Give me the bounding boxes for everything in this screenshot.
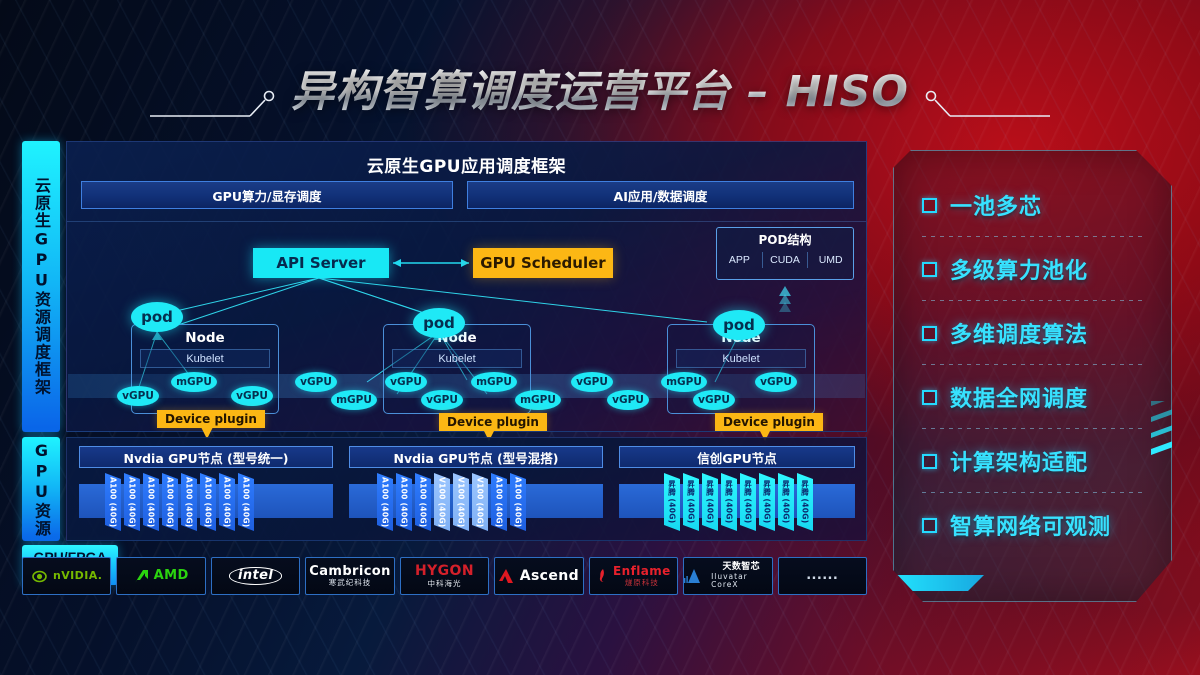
vendor-logo-amd[interactable]: AMD	[116, 557, 205, 595]
node-title: Node	[132, 330, 278, 346]
feature-label: 多级算力池化	[950, 253, 1088, 285]
gpu-card-label: A100 (40G)	[495, 477, 504, 528]
pod-structure-cell-cuda: CUDA	[762, 252, 808, 268]
vendor-subtitle-label: 寒武纪科技	[329, 579, 372, 587]
gpu-card-label: 昇腾 (40G)	[762, 480, 773, 523]
vgpu-ellipse[interactable]: vGPU	[117, 386, 159, 406]
vendor-logo-hygon[interactable]: HYGON中科海光	[400, 557, 489, 595]
ascend-mark-icon	[499, 569, 515, 583]
framework-bar-0-label: GPU算力/显存调度	[212, 186, 321, 205]
gpu-card-label: A100 (40G)	[514, 477, 523, 528]
framework-bar-compute-scheduling[interactable]: GPU算力/显存调度	[81, 181, 453, 209]
feature-item[interactable]: 多维调度算法	[922, 301, 1155, 365]
gpu-card-label: 昇腾 (40G)	[686, 480, 697, 523]
feature-label: 计算架构适配	[950, 445, 1088, 477]
features-panel: 一池多芯多级算力池化多维调度算法数据全网调度计算架构适配智算网络可观测	[893, 150, 1172, 602]
checkbox-icon	[922, 454, 937, 469]
gpu-card[interactable]: 昇腾 (40G)	[797, 473, 813, 531]
feature-label: 数据全网调度	[950, 381, 1088, 413]
vgpu-ellipse[interactable]: vGPU	[421, 390, 463, 410]
vendor-name-label: intel	[229, 567, 282, 585]
vgpu-ellipse[interactable]: vGPU	[755, 372, 797, 392]
gpu-card-label: A100 (40G)	[204, 477, 213, 528]
gpu-scheduler-label: GPU Scheduler	[480, 254, 605, 272]
gpu-card-label: V100 (40G)	[438, 477, 447, 528]
gpu-group-header: 信创GPU节点	[619, 446, 855, 468]
sidebar-tab-gpu-resource[interactable]: GPU资源	[22, 437, 60, 541]
vgpu-ellipse[interactable]: vGPU	[231, 386, 273, 406]
gpu-card-label: A100 (40G)	[185, 477, 194, 528]
vendor-logo-nvidia[interactable]: nVIDIA.	[22, 557, 111, 595]
vendor-subtitle-label: 燧原科技	[625, 579, 659, 587]
vendor-name-label: Enflame	[613, 565, 671, 578]
api-server-label: API Server	[276, 254, 365, 272]
feature-item[interactable]: 计算架构适配	[922, 429, 1155, 493]
vendor-name-label: HYGON	[415, 564, 474, 579]
mgpu-ellipse[interactable]: mGPU	[515, 390, 561, 410]
gpu-card-label: 昇腾 (40G)	[705, 480, 716, 523]
cloud-native-framework-panel: 云原生GPU应用调度框架 GPU算力/显存调度 AI应用/数据调度	[66, 141, 867, 432]
vendor-name-label: Cambricon	[309, 565, 391, 579]
gpu-card[interactable]: 昇腾 (40G)	[721, 473, 737, 531]
vendor-logo-more[interactable]: ......	[778, 557, 867, 595]
gpu-group-header: Nvdia GPU节点 (型号混搭)	[349, 446, 603, 468]
gpu-card[interactable]: A100 (40G)	[377, 473, 393, 531]
device-plugin-tag[interactable]: Device plugin	[439, 413, 547, 431]
vendor-name-label: 天数智芯	[722, 563, 760, 572]
feature-item[interactable]: 智算网络可观测	[922, 493, 1155, 557]
feature-label: 一池多芯	[950, 189, 1042, 221]
framework-bar-ai-data-scheduling[interactable]: AI应用/数据调度	[467, 181, 854, 209]
vendor-name-label: Ascend	[520, 569, 579, 584]
gpu-card-label: V100 (40G)	[457, 477, 466, 528]
checkbox-icon	[922, 326, 937, 341]
gpu-card-label: A100 (40G)	[166, 477, 175, 528]
vendor-name-label: AMD	[154, 569, 189, 583]
gpu-card[interactable]: A100 (40G)	[491, 473, 507, 531]
pod-ellipse[interactable]: pod	[713, 310, 765, 340]
vendor-subtitle-label: Iluvatar CoreX	[711, 573, 771, 589]
gpu-card-label: A100 (40G)	[400, 477, 409, 528]
vendor-subtitle-label: 中科海光	[427, 580, 461, 588]
mgpu-ellipse[interactable]: mGPU	[471, 372, 517, 392]
kubelet-bar: Kubelet	[392, 349, 522, 368]
gpu-resource-panel: Nvdia GPU节点 (型号统一) Nvdia GPU节点 (型号混搭) 信创…	[66, 437, 867, 541]
vendor-logo-iluvatar[interactable]: 天数智芯Iluvatar CoreX	[683, 557, 772, 595]
device-plugin-tag[interactable]: Device plugin	[715, 413, 823, 431]
vgpu-ellipse[interactable]: vGPU	[571, 372, 613, 392]
framework-title: 云原生GPU应用调度框架	[67, 152, 866, 177]
gpu-card[interactable]: A100 (40G)	[219, 473, 235, 531]
title-bar: 异构智算调度运营平台 – HISO	[0, 62, 1200, 128]
gpu-card[interactable]: V100 (40G)	[434, 473, 450, 531]
gpu-card-label: A100 (40G)	[242, 477, 251, 528]
nvidia-mark-icon	[31, 570, 48, 583]
gpu-card-label: A100 (40G)	[109, 477, 118, 528]
framework-divider	[67, 221, 866, 222]
gpu-card[interactable]: V100 (40G)	[472, 473, 488, 531]
gpu-card-label: 昇腾 (40G)	[800, 480, 811, 523]
gpu-card-stack: A100 (40G)A100 (40G)A100 (40G)V100 (40G)…	[377, 473, 526, 531]
vendor-logo-intel[interactable]: intel	[211, 557, 300, 595]
pod-ellipse[interactable]: pod	[413, 308, 465, 338]
gpu-card-label: A100 (40G)	[223, 477, 232, 528]
feature-label: 智算网络可观测	[950, 509, 1111, 541]
vendor-name-label: ......	[806, 569, 838, 583]
gpu-card-label: A100 (40G)	[147, 477, 156, 528]
gpu-card-label: A100 (40G)	[419, 477, 428, 528]
gpu-card[interactable]: A100 (40G)	[124, 473, 140, 531]
gpu-card[interactable]: V100 (40G)	[453, 473, 469, 531]
gpu-card[interactable]: 昇腾 (40G)	[759, 473, 775, 531]
feature-label: 多维调度算法	[950, 317, 1088, 349]
iluvatar-mark-icon	[684, 569, 706, 583]
feature-item[interactable]: 一池多芯	[922, 173, 1155, 237]
title-decoration-right-icon	[920, 86, 1050, 122]
kubelet-bar: Kubelet	[676, 349, 806, 368]
gpu-card-label: 昇腾 (40G)	[724, 480, 735, 523]
gpu-card[interactable]: A100 (40G)	[396, 473, 412, 531]
gpu-card-label: 昇腾 (40G)	[743, 480, 754, 523]
gpu-card[interactable]: 昇腾 (40G)	[778, 473, 794, 531]
gpu-scheduler-node[interactable]: GPU Scheduler	[473, 248, 613, 278]
mgpu-ellipse[interactable]: mGPU	[661, 372, 707, 392]
pod-ellipse[interactable]: pod	[131, 302, 183, 332]
panel-corner-accent-icon	[888, 575, 984, 591]
gpu-card-label: 昇腾 (40G)	[667, 480, 678, 523]
panel-stripes-decoration-icon	[1151, 401, 1177, 477]
gpu-card-label: A100 (40G)	[381, 477, 390, 528]
gpu-card[interactable]: A100 (40G)	[510, 473, 526, 531]
sidebar-tab-gpu-resource-label: GPU资源	[33, 441, 49, 538]
mgpu-ellipse[interactable]: mGPU	[331, 390, 377, 410]
architecture-diagram: 云原生GPU资源调度框架 GPU资源 GPU/FPGA /ASIC 云原生GPU…	[22, 141, 867, 601]
enflame-mark-icon	[596, 569, 608, 583]
kubelet-bar: Kubelet	[140, 349, 270, 368]
vendor-logo-enflame[interactable]: Enflame燧原科技	[589, 557, 678, 595]
pod-structure-cell-app: APP	[717, 252, 762, 268]
gpu-card[interactable]: A100 (40G)	[415, 473, 431, 531]
slide-canvas: 异构智算调度运营平台 – HISO 云原生GPU资源调度框架 GPU资源 GPU…	[0, 0, 1200, 675]
api-server-node[interactable]: API Server	[253, 248, 389, 278]
vendor-logo-row: nVIDIA.AMDintelCambricon寒武纪科技HYGON中科海光As…	[22, 557, 867, 595]
mgpu-ellipse[interactable]: mGPU	[171, 372, 217, 392]
gpu-group-header: Nvdia GPU节点 (型号统一)	[79, 446, 333, 468]
checkbox-icon	[922, 198, 937, 213]
gpu-card[interactable]: A100 (40G)	[200, 473, 216, 531]
gpu-card[interactable]: 昇腾 (40G)	[740, 473, 756, 531]
gpu-card-stack: 昇腾 (40G)昇腾 (40G)昇腾 (40G)昇腾 (40G)昇腾 (40G)…	[664, 473, 813, 531]
pod-structure-box: POD结构 APP CUDA UMD	[716, 227, 854, 280]
framework-bar-1-label: AI应用/数据调度	[614, 186, 708, 205]
gpu-card[interactable]: A100 (40G)	[162, 473, 178, 531]
gpu-card[interactable]: A100 (40G)	[238, 473, 254, 531]
gpu-card[interactable]: 昇腾 (40G)	[683, 473, 699, 531]
feature-item[interactable]: 数据全网调度	[922, 365, 1155, 429]
gpu-card-label: A100 (40G)	[128, 477, 137, 528]
vendor-name-label: nVIDIA.	[53, 570, 102, 582]
checkbox-icon	[922, 390, 937, 405]
gpu-card-label: 昇腾 (40G)	[781, 480, 792, 523]
pod-structure-cell-umd: UMD	[807, 252, 853, 268]
vendor-logo-cambricon[interactable]: Cambricon寒武纪科技	[305, 557, 394, 595]
pod-structure-title: POD结构	[717, 231, 853, 248]
sidebar-tab-framework[interactable]: 云原生GPU资源调度框架	[22, 141, 60, 432]
sidebar-tab-framework-label: 云原生GPU资源调度框架	[33, 177, 49, 396]
gpu-card[interactable]: 昇腾 (40G)	[702, 473, 718, 531]
features-list: 一池多芯多级算力池化多维调度算法数据全网调度计算架构适配智算网络可观测	[922, 173, 1155, 557]
checkbox-icon	[922, 262, 937, 277]
device-plugin-tag[interactable]: Device plugin	[157, 410, 265, 428]
feature-item[interactable]: 多级算力池化	[922, 237, 1155, 301]
gpu-card[interactable]: A100 (40G)	[105, 473, 121, 531]
vgpu-ellipse[interactable]: vGPU	[693, 390, 735, 410]
gpu-card[interactable]: A100 (40G)	[143, 473, 159, 531]
gpu-card[interactable]: A100 (40G)	[181, 473, 197, 531]
vendor-logo-ascend[interactable]: Ascend	[494, 557, 583, 595]
vgpu-ellipse[interactable]: vGPU	[295, 372, 337, 392]
gpu-card[interactable]: 昇腾 (40G)	[664, 473, 680, 531]
amd-mark-icon	[134, 569, 149, 584]
gpu-card-label: V100 (40G)	[476, 477, 485, 528]
vgpu-ellipse[interactable]: vGPU	[385, 372, 427, 392]
gpu-card-stack: A100 (40G)A100 (40G)A100 (40G)A100 (40G)…	[105, 473, 254, 531]
vgpu-ellipse[interactable]: vGPU	[607, 390, 649, 410]
checkbox-icon	[922, 518, 937, 533]
